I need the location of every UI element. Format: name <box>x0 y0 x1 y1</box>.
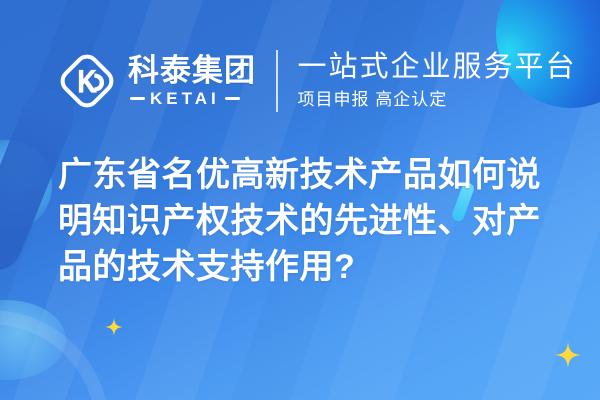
banner-header: 科泰集团 KETAI 一站式企业服务平台 项目申报 高企认定 <box>0 38 600 124</box>
logo-english-row: KETAI <box>128 90 256 107</box>
logo-wordmark: 科泰集团 KETAI <box>128 55 256 108</box>
logo-dash-left-icon <box>130 97 145 100</box>
logo-dash-right-icon <box>225 97 240 100</box>
logo-company-name-en: KETAI <box>150 90 220 107</box>
sparkle-star-small-icon <box>105 318 123 336</box>
page-title: 广东省名优高新技术产品如何说明知识产权技术的先进性、对产品的技术支持作用? <box>58 152 554 291</box>
slogan-block: 一站式企业服务平台 项目申报 高企认定 <box>298 51 577 111</box>
cyan-blob-left <box>0 140 52 232</box>
promo-banner: 科泰集团 KETAI 一站式企业服务平台 项目申报 高企认定 广东省名优高新技术… <box>0 0 600 400</box>
slogan-primary: 一站式企业服务平台 <box>298 51 577 84</box>
slogan-secondary: 项目申报 高企认定 <box>298 90 577 110</box>
header-vertical-divider <box>276 50 278 112</box>
logo-company-name-cn: 科泰集团 <box>128 55 256 88</box>
ketai-diamond-kd-monogram-icon <box>56 50 118 112</box>
decorative-arc <box>0 310 110 400</box>
sparkle-star-large-icon <box>555 342 581 368</box>
cyan-blob-lower-left <box>0 300 66 380</box>
